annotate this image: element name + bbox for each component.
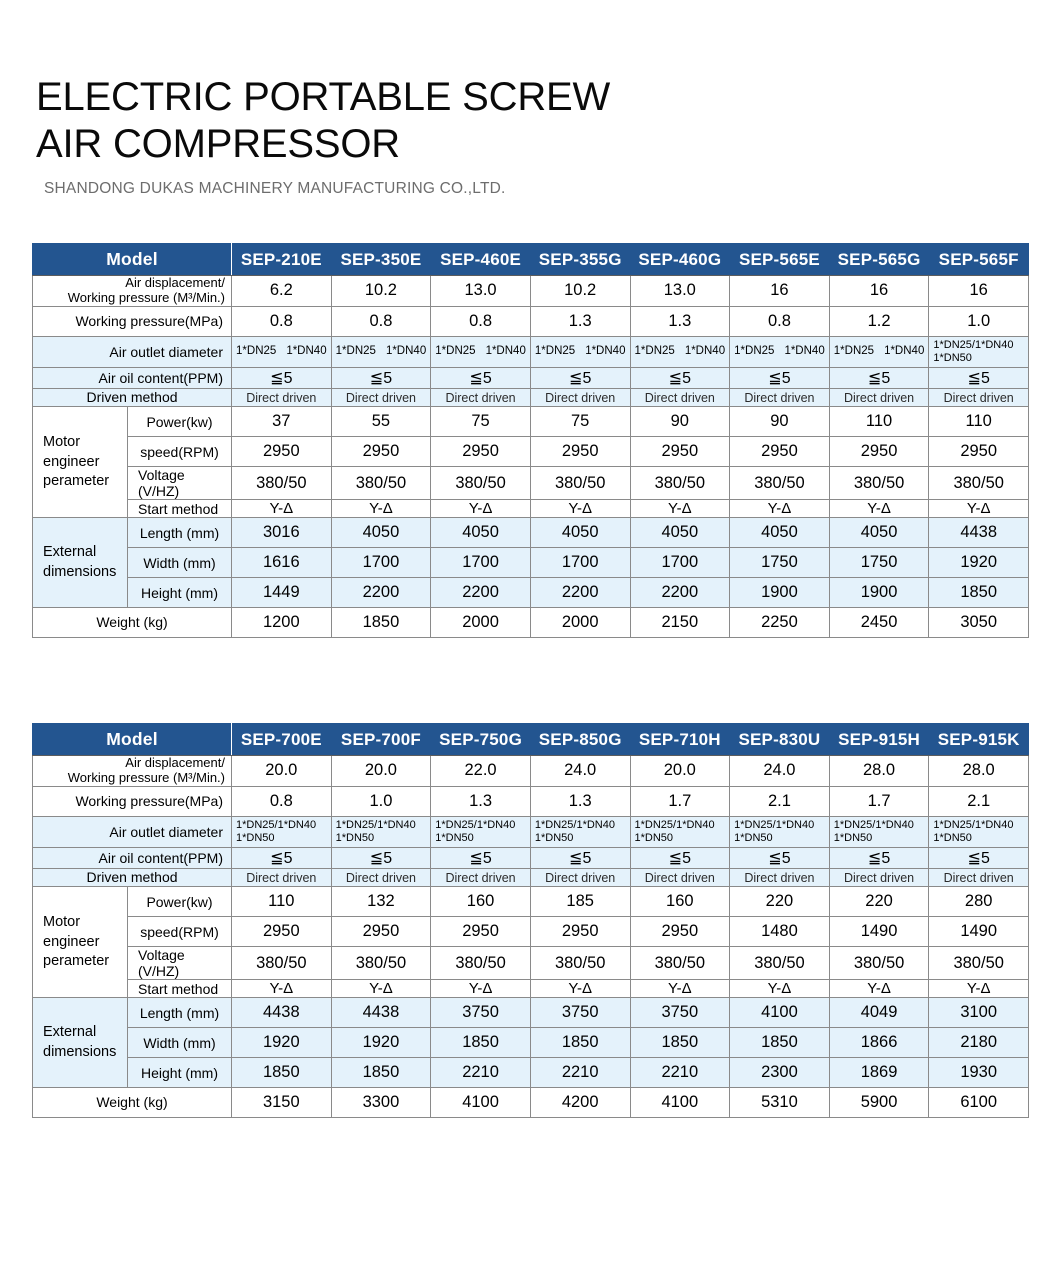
driven-method-value: Direct driven [232,869,332,887]
length-value: 4050 [829,518,929,548]
driven-method-value: Direct driven [431,869,531,887]
air-displacement-value: 16 [730,276,830,307]
voltage-value: 380/50 [431,467,531,500]
air-oil-content-value: ≦5 [232,368,332,389]
spec-sheet-page: ELECTRIC PORTABLE SCREW AIR COMPRESSOR S… [0,0,1060,1284]
label-start-method: Start method [128,500,232,518]
weight-value: 4100 [431,1088,531,1118]
length-value: 4049 [829,998,929,1028]
width-value: 1850 [630,1028,730,1058]
label-air-outlet-diameter: Air outlet diameter [33,336,232,367]
label-height: Height (mm) [128,1058,232,1088]
header-model-SEP-565F: SEP-565F [929,244,1029,276]
air-displacement-value: 20.0 [232,756,332,787]
row-air-oil-content: Air oil content(PPM)≦5≦5≦5≦5≦5≦5≦5≦5 [33,848,1029,869]
air-displacement-value: 10.2 [331,276,431,307]
air-oil-content-value: ≦5 [630,368,730,389]
air-outlet-diameter-value: 1*DN25/1*DN401*DN50 [530,816,630,847]
working-pressure-value: 0.8 [232,306,332,336]
row-speed: speed(RPM)295029502950295029501480149014… [33,917,1029,947]
speed-value: 1490 [929,917,1029,947]
header-model-SEP-355G: SEP-355G [530,244,630,276]
speed-value: 2950 [730,437,830,467]
air-oil-content-value: ≦5 [730,848,830,869]
air-oil-content-value: ≦5 [730,368,830,389]
start-method-value: Υ-Δ [630,500,730,518]
voltage-value: 380/50 [730,467,830,500]
voltage-value: 380/50 [829,467,929,500]
power-value: 280 [929,887,1029,917]
row-width: Width (mm)161617001700170017001750175019… [33,548,1029,578]
power-value: 90 [730,407,830,437]
air-outlet-diameter-value: 1*DN251*DN40 [431,336,531,367]
working-pressure-value: 1.3 [530,786,630,816]
label-power: Power(kw) [128,887,232,917]
width-value: 1700 [530,548,630,578]
driven-method-value: Direct driven [331,389,431,407]
row-height: Height (mm)18501850221022102210230018691… [33,1058,1029,1088]
working-pressure-value: 1.2 [829,306,929,336]
air-outlet-diameter-value: 1*DN251*DN40 [730,336,830,367]
air-oil-content-value: ≦5 [929,368,1029,389]
row-start-method: Start methodΥ-ΔΥ-ΔΥ-ΔΥ-ΔΥ-ΔΥ-ΔΥ-ΔΥ-Δ [33,500,1029,518]
start-method-value: Υ-Δ [530,500,630,518]
air-oil-content-value: ≦5 [530,368,630,389]
width-value: 1616 [232,548,332,578]
header-model-SEP-565G: SEP-565G [829,244,929,276]
air-outlet-diameter-value: 1*DN25/1*DN401*DN50 [232,816,332,847]
header-model-label: Model [33,724,232,756]
air-displacement-value: 22.0 [431,756,531,787]
weight-value: 1200 [232,608,332,638]
working-pressure-value: 0.8 [232,786,332,816]
start-method-value: Υ-Δ [929,980,1029,998]
header-model-SEP-710H: SEP-710H [630,724,730,756]
working-pressure-value: 1.0 [331,786,431,816]
air-outlet-diameter-value: 1*DN25/1*DN401*DN50 [431,816,531,847]
voltage-value: 380/50 [232,947,332,980]
width-value: 1866 [829,1028,929,1058]
driven-method-value: Direct driven [730,869,830,887]
weight-value: 3050 [929,608,1029,638]
height-value: 1850 [331,1058,431,1088]
voltage-value: 380/50 [929,947,1029,980]
driven-method-value: Direct driven [730,389,830,407]
air-outlet-diameter-value: 1*DN251*DN40 [630,336,730,367]
label-driven-method: Driven method [33,869,232,887]
start-method-value: Υ-Δ [331,500,431,518]
label-weight: Weight (kg) [33,1088,232,1118]
speed-value: 2950 [431,917,531,947]
air-oil-content-value: ≦5 [232,848,332,869]
label-external-group: External dimensions [33,518,128,608]
speed-value: 2950 [829,437,929,467]
power-value: 160 [431,887,531,917]
weight-value: 2150 [630,608,730,638]
weight-value: 3150 [232,1088,332,1118]
header-model-SEP-460E: SEP-460E [431,244,531,276]
label-air-oil-content: Air oil content(PPM) [33,848,232,869]
length-value: 3100 [929,998,1029,1028]
air-displacement-value: 24.0 [530,756,630,787]
driven-method-value: Direct driven [929,389,1029,407]
table-header-row: ModelSEP-210ESEP-350ESEP-460ESEP-355GSEP… [33,244,1029,276]
air-displacement-value: 13.0 [630,276,730,307]
start-method-value: Υ-Δ [530,980,630,998]
label-air-oil-content: Air oil content(PPM) [33,368,232,389]
air-outlet-diameter-value: 1*DN251*DN40 [232,336,332,367]
width-value: 1920 [331,1028,431,1058]
voltage-value: 380/50 [232,467,332,500]
label-weight: Weight (kg) [33,608,232,638]
speed-value: 2950 [630,437,730,467]
air-oil-content-value: ≦5 [929,848,1029,869]
row-length: External dimensionsLength (mm)3016405040… [33,518,1029,548]
length-value: 3016 [232,518,332,548]
company-subtitle: SHANDONG DUKAS MACHINERY MANUFACTURING C… [44,180,936,198]
height-value: 1850 [232,1058,332,1088]
spec-table-1: ModelSEP-210ESEP-350ESEP-460ESEP-355GSEP… [32,243,1029,638]
height-value: 1930 [929,1058,1029,1088]
speed-value: 2950 [530,437,630,467]
driven-method-value: Direct driven [630,869,730,887]
height-value: 2200 [431,578,531,608]
start-method-value: Υ-Δ [730,500,830,518]
label-air-displacement: Air displacement/Working pressure (M³/Mi… [33,756,232,787]
height-value: 2210 [630,1058,730,1088]
row-height: Height (mm)14492200220022002200190019001… [33,578,1029,608]
label-length: Length (mm) [128,518,232,548]
row-power: Motor engineer perameterPower(kw)3755757… [33,407,1029,437]
air-displacement-value: 20.0 [331,756,431,787]
header-model-SEP-350E: SEP-350E [331,244,431,276]
weight-value: 2450 [829,608,929,638]
height-value: 2210 [431,1058,531,1088]
length-value: 4438 [331,998,431,1028]
air-oil-content-value: ≦5 [331,848,431,869]
width-value: 1700 [431,548,531,578]
width-value: 2180 [929,1028,1029,1058]
label-height: Height (mm) [128,578,232,608]
header-model-SEP-850G: SEP-850G [530,724,630,756]
header-model-SEP-460G: SEP-460G [630,244,730,276]
row-width: Width (mm)192019201850185018501850186621… [33,1028,1029,1058]
height-value: 2200 [530,578,630,608]
length-value: 3750 [630,998,730,1028]
height-value: 2200 [630,578,730,608]
power-value: 220 [829,887,929,917]
air-oil-content-value: ≦5 [829,368,929,389]
row-air-oil-content: Air oil content(PPM)≦5≦5≦5≦5≦5≦5≦5≦5 [33,368,1029,389]
power-value: 110 [232,887,332,917]
label-power: Power(kw) [128,407,232,437]
air-outlet-diameter-value: 1*DN25/1*DN401*DN50 [929,816,1029,847]
height-value: 1900 [829,578,929,608]
row-voltage: Voltage (V/HZ)380/50380/50380/50380/5038… [33,947,1029,980]
row-air-displacement: Air displacement/Working pressure (M³/Mi… [33,276,1029,307]
speed-value: 2950 [929,437,1029,467]
width-value: 1700 [331,548,431,578]
air-displacement-value: 28.0 [929,756,1029,787]
driven-method-value: Direct driven [829,869,929,887]
voltage-value: 380/50 [630,947,730,980]
air-displacement-value: 6.2 [232,276,332,307]
weight-value: 2000 [530,608,630,638]
start-method-value: Υ-Δ [730,980,830,998]
row-speed: speed(RPM)295029502950295029502950295029… [33,437,1029,467]
air-displacement-value: 28.0 [829,756,929,787]
header-model-SEP-565E: SEP-565E [730,244,830,276]
driven-method-value: Direct driven [331,869,431,887]
width-value: 1850 [730,1028,830,1058]
power-value: 160 [630,887,730,917]
air-oil-content-value: ≦5 [829,848,929,869]
length-value: 3750 [431,998,531,1028]
width-value: 1750 [829,548,929,578]
air-outlet-diameter-value: 1*DN25/1*DN401*DN50 [331,816,431,847]
row-driven-method: Driven methodDirect drivenDirect drivenD… [33,869,1029,887]
speed-value: 2950 [232,437,332,467]
voltage-value: 380/50 [331,467,431,500]
voltage-value: 380/50 [530,467,630,500]
working-pressure-value: 1.7 [829,786,929,816]
row-driven-method: Driven methodDirect drivenDirect drivenD… [33,389,1029,407]
speed-value: 1490 [829,917,929,947]
start-method-value: Υ-Δ [232,980,332,998]
length-value: 4050 [630,518,730,548]
weight-value: 4200 [530,1088,630,1118]
air-oil-content-value: ≦5 [431,848,531,869]
width-value: 1700 [630,548,730,578]
label-air-outlet-diameter: Air outlet diameter [33,816,232,847]
header-model-SEP-750G: SEP-750G [431,724,531,756]
height-value: 2210 [530,1058,630,1088]
weight-value: 5900 [829,1088,929,1118]
length-value: 3750 [530,998,630,1028]
air-outlet-diameter-value: 1*DN251*DN40 [530,336,630,367]
working-pressure-value: 1.0 [929,306,1029,336]
driven-method-value: Direct driven [929,869,1029,887]
driven-method-value: Direct driven [232,389,332,407]
power-value: 75 [431,407,531,437]
power-value: 90 [630,407,730,437]
speed-value: 2950 [331,917,431,947]
header-model-SEP-700E: SEP-700E [232,724,332,756]
spec-table-2: ModelSEP-700ESEP-700FSEP-750GSEP-850GSEP… [32,723,1029,1118]
speed-value: 1480 [730,917,830,947]
label-air-displacement: Air displacement/Working pressure (M³/Mi… [33,276,232,307]
row-air-outlet-diameter: Air outlet diameter1*DN25/1*DN401*DN501*… [33,816,1029,847]
driven-method-value: Direct driven [431,389,531,407]
power-value: 220 [730,887,830,917]
width-value: 1850 [530,1028,630,1058]
air-displacement-value: 20.0 [630,756,730,787]
speed-value: 2950 [431,437,531,467]
header-model-SEP-700F: SEP-700F [331,724,431,756]
length-value: 4050 [431,518,531,548]
label-voltage: Voltage (V/HZ) [128,467,232,500]
air-outlet-diameter-value: 1*DN251*DN40 [829,336,929,367]
row-air-outlet-diameter: Air outlet diameter1*DN251*DN401*DN251*D… [33,336,1029,367]
label-width: Width (mm) [128,1028,232,1058]
height-value: 2300 [730,1058,830,1088]
page-title-line-1: ELECTRIC PORTABLE SCREW [36,74,936,121]
header-model-label: Model [33,244,232,276]
air-outlet-diameter-value: 1*DN25/1*DN401*DN50 [730,816,830,847]
label-external-group: External dimensions [33,998,128,1088]
start-method-value: Υ-Δ [431,980,531,998]
working-pressure-value: 1.3 [431,786,531,816]
weight-value: 4100 [630,1088,730,1118]
air-outlet-diameter-value: 1*DN25/1*DN401*DN50 [829,816,929,847]
length-value: 4050 [331,518,431,548]
width-value: 1920 [929,548,1029,578]
row-power: Motor engineer perameterPower(kw)1101321… [33,887,1029,917]
air-displacement-value: 16 [829,276,929,307]
start-method-value: Υ-Δ [829,500,929,518]
length-value: 4438 [232,998,332,1028]
length-value: 4050 [730,518,830,548]
weight-value: 5310 [730,1088,830,1118]
row-voltage: Voltage (V/HZ)380/50380/50380/50380/5038… [33,467,1029,500]
voltage-value: 380/50 [630,467,730,500]
air-oil-content-value: ≦5 [431,368,531,389]
row-weight: Weight (kg)12001850200020002150225024503… [33,608,1029,638]
row-air-displacement: Air displacement/Working pressure (M³/Mi… [33,756,1029,787]
speed-value: 2950 [630,917,730,947]
driven-method-value: Direct driven [829,389,929,407]
power-value: 37 [232,407,332,437]
air-displacement-value: 10.2 [530,276,630,307]
header-model-SEP-210E: SEP-210E [232,244,332,276]
working-pressure-value: 1.3 [530,306,630,336]
power-value: 110 [929,407,1029,437]
working-pressure-value: 1.7 [630,786,730,816]
width-value: 1920 [232,1028,332,1058]
air-outlet-diameter-value: 1*DN251*DN40 [331,336,431,367]
weight-value: 2000 [431,608,531,638]
label-start-method: Start method [128,980,232,998]
row-weight: Weight (kg)31503300410042004100531059006… [33,1088,1029,1118]
length-value: 4100 [730,998,830,1028]
start-method-value: Υ-Δ [929,500,1029,518]
table-header-row: ModelSEP-700ESEP-700FSEP-750GSEP-850GSEP… [33,724,1029,756]
power-value: 185 [530,887,630,917]
header-model-SEP-915H: SEP-915H [829,724,929,756]
air-outlet-diameter-value: 1*DN25/1*DN401*DN50 [630,816,730,847]
air-outlet-diameter-value: 1*DN25/1*DN401*DN50 [929,336,1029,367]
label-length: Length (mm) [128,998,232,1028]
voltage-value: 380/50 [730,947,830,980]
air-oil-content-value: ≦5 [630,848,730,869]
voltage-value: 380/50 [530,947,630,980]
working-pressure-value: 0.8 [730,306,830,336]
row-start-method: Start methodΥ-ΔΥ-ΔΥ-ΔΥ-ΔΥ-ΔΥ-ΔΥ-ΔΥ-Δ [33,980,1029,998]
voltage-value: 380/50 [929,467,1029,500]
row-working-pressure: Working pressure(MPa)0.81.01.31.31.72.11… [33,786,1029,816]
label-motor-group: Motor engineer perameter [33,887,128,998]
row-length: External dimensionsLength (mm)4438443837… [33,998,1029,1028]
start-method-value: Υ-Δ [331,980,431,998]
speed-value: 2950 [331,437,431,467]
start-method-value: Υ-Δ [232,500,332,518]
header-model-SEP-915K: SEP-915K [929,724,1029,756]
working-pressure-value: 0.8 [431,306,531,336]
weight-value: 1850 [331,608,431,638]
air-displacement-value: 16 [929,276,1029,307]
driven-method-value: Direct driven [530,389,630,407]
label-driven-method: Driven method [33,389,232,407]
label-width: Width (mm) [128,548,232,578]
voltage-value: 380/50 [431,947,531,980]
label-speed: speed(RPM) [128,437,232,467]
height-value: 1869 [829,1058,929,1088]
length-value: 4438 [929,518,1029,548]
weight-value: 6100 [929,1088,1029,1118]
header-model-SEP-830U: SEP-830U [730,724,830,756]
label-working-pressure: Working pressure(MPa) [33,786,232,816]
label-speed: speed(RPM) [128,917,232,947]
height-value: 2200 [331,578,431,608]
height-value: 1900 [730,578,830,608]
height-value: 1850 [929,578,1029,608]
label-working-pressure: Working pressure(MPa) [33,306,232,336]
air-displacement-value: 13.0 [431,276,531,307]
power-value: 132 [331,887,431,917]
power-value: 75 [530,407,630,437]
height-value: 1449 [232,578,332,608]
width-value: 1750 [730,548,830,578]
label-voltage: Voltage (V/HZ) [128,947,232,980]
working-pressure-value: 2.1 [730,786,830,816]
air-oil-content-value: ≦5 [331,368,431,389]
power-value: 110 [829,407,929,437]
working-pressure-value: 0.8 [331,306,431,336]
length-value: 4050 [530,518,630,548]
title-block: ELECTRIC PORTABLE SCREW AIR COMPRESSOR S… [36,74,936,198]
label-motor-group: Motor engineer perameter [33,407,128,518]
start-method-value: Υ-Δ [630,980,730,998]
start-method-value: Υ-Δ [431,500,531,518]
air-displacement-value: 24.0 [730,756,830,787]
working-pressure-value: 1.3 [630,306,730,336]
weight-value: 3300 [331,1088,431,1118]
speed-value: 2950 [232,917,332,947]
working-pressure-value: 2.1 [929,786,1029,816]
driven-method-value: Direct driven [530,869,630,887]
weight-value: 2250 [730,608,830,638]
speed-value: 2950 [530,917,630,947]
air-oil-content-value: ≦5 [530,848,630,869]
voltage-value: 380/50 [331,947,431,980]
page-title-line-2: AIR COMPRESSOR [36,121,936,168]
row-working-pressure: Working pressure(MPa)0.80.80.81.31.30.81… [33,306,1029,336]
power-value: 55 [331,407,431,437]
width-value: 1850 [431,1028,531,1058]
start-method-value: Υ-Δ [829,980,929,998]
driven-method-value: Direct driven [630,389,730,407]
voltage-value: 380/50 [829,947,929,980]
